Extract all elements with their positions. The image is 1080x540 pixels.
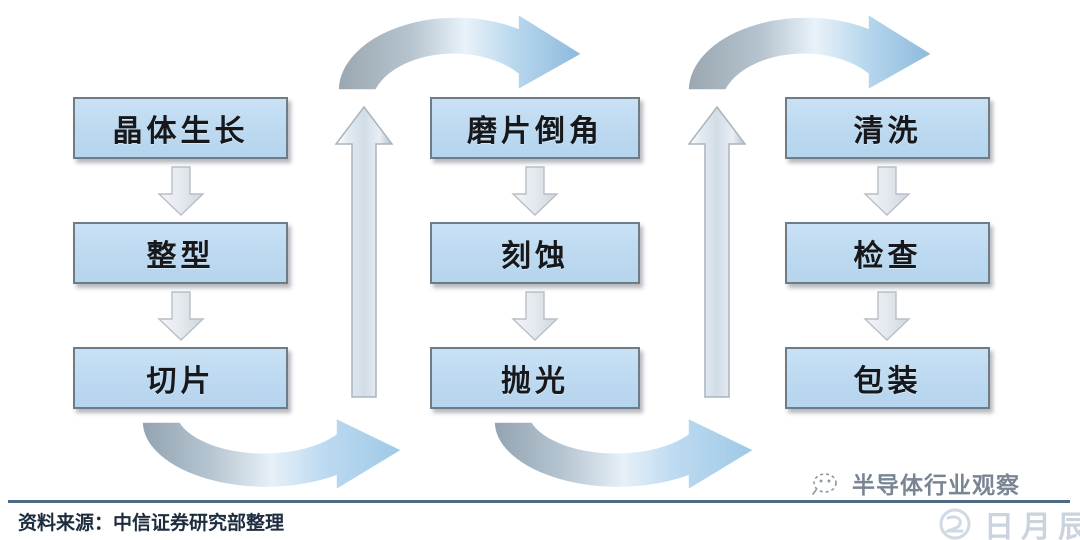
footer-divider (8, 500, 1070, 503)
process-box-label: 晶体生长 (113, 106, 249, 150)
process-box-label: 清洗 (854, 106, 922, 150)
vertical-up-arrow-column1 (333, 104, 395, 400)
process-box-label: 刻蚀 (501, 231, 569, 275)
connector-down-arrow (862, 165, 912, 217)
process-box-label: 整型 (147, 231, 215, 275)
diagram-canvas: 晶体生长 整型 切片 (0, 0, 1080, 540)
watermark-brand-name: 日月辰 (984, 502, 1080, 540)
process-box-shaping[interactable]: 整型 (73, 222, 288, 284)
watermark-account-name: 半导体行业观察 (852, 466, 1020, 500)
bottom-arc-column1-to-column2 (140, 418, 410, 496)
connector-down-arrow (510, 290, 560, 342)
process-box-slicing[interactable]: 切片 (73, 347, 288, 409)
process-box-crystal-growth[interactable]: 晶体生长 (73, 97, 288, 159)
process-box-polishing[interactable]: 抛光 (430, 347, 640, 409)
process-box-packaging[interactable]: 包装 (785, 347, 990, 409)
process-box-inspection[interactable]: 检查 (785, 222, 990, 284)
connector-down-arrow (510, 165, 560, 217)
circular-logo-icon (938, 507, 978, 540)
connector-down-arrow (156, 165, 206, 217)
vertical-up-arrow-column2 (686, 104, 748, 400)
bottom-arc-column2-to-column3 (492, 418, 762, 496)
wechat-account-icon (812, 470, 842, 496)
process-box-cleaning[interactable]: 清洗 (785, 97, 990, 159)
process-box-label: 抛光 (501, 356, 569, 400)
process-box-label: 磨片倒角 (467, 106, 603, 150)
process-box-label: 切片 (147, 356, 215, 400)
connector-down-arrow (156, 290, 206, 342)
top-arc-column1-to-column2 (336, 12, 586, 94)
watermark-brand: 日月辰 (938, 502, 1080, 540)
watermark-account: 半导体行业观察 (812, 466, 1020, 500)
process-box-label: 包装 (854, 356, 922, 400)
process-box-label: 检查 (854, 231, 922, 275)
connector-down-arrow (862, 290, 912, 342)
process-box-wafer-edge-grinding[interactable]: 磨片倒角 (430, 97, 640, 159)
top-arc-column2-to-column3 (686, 12, 936, 94)
footer-source-text: 资料来源：中信证券研究部整理 (18, 508, 284, 535)
process-box-etching[interactable]: 刻蚀 (430, 222, 640, 284)
